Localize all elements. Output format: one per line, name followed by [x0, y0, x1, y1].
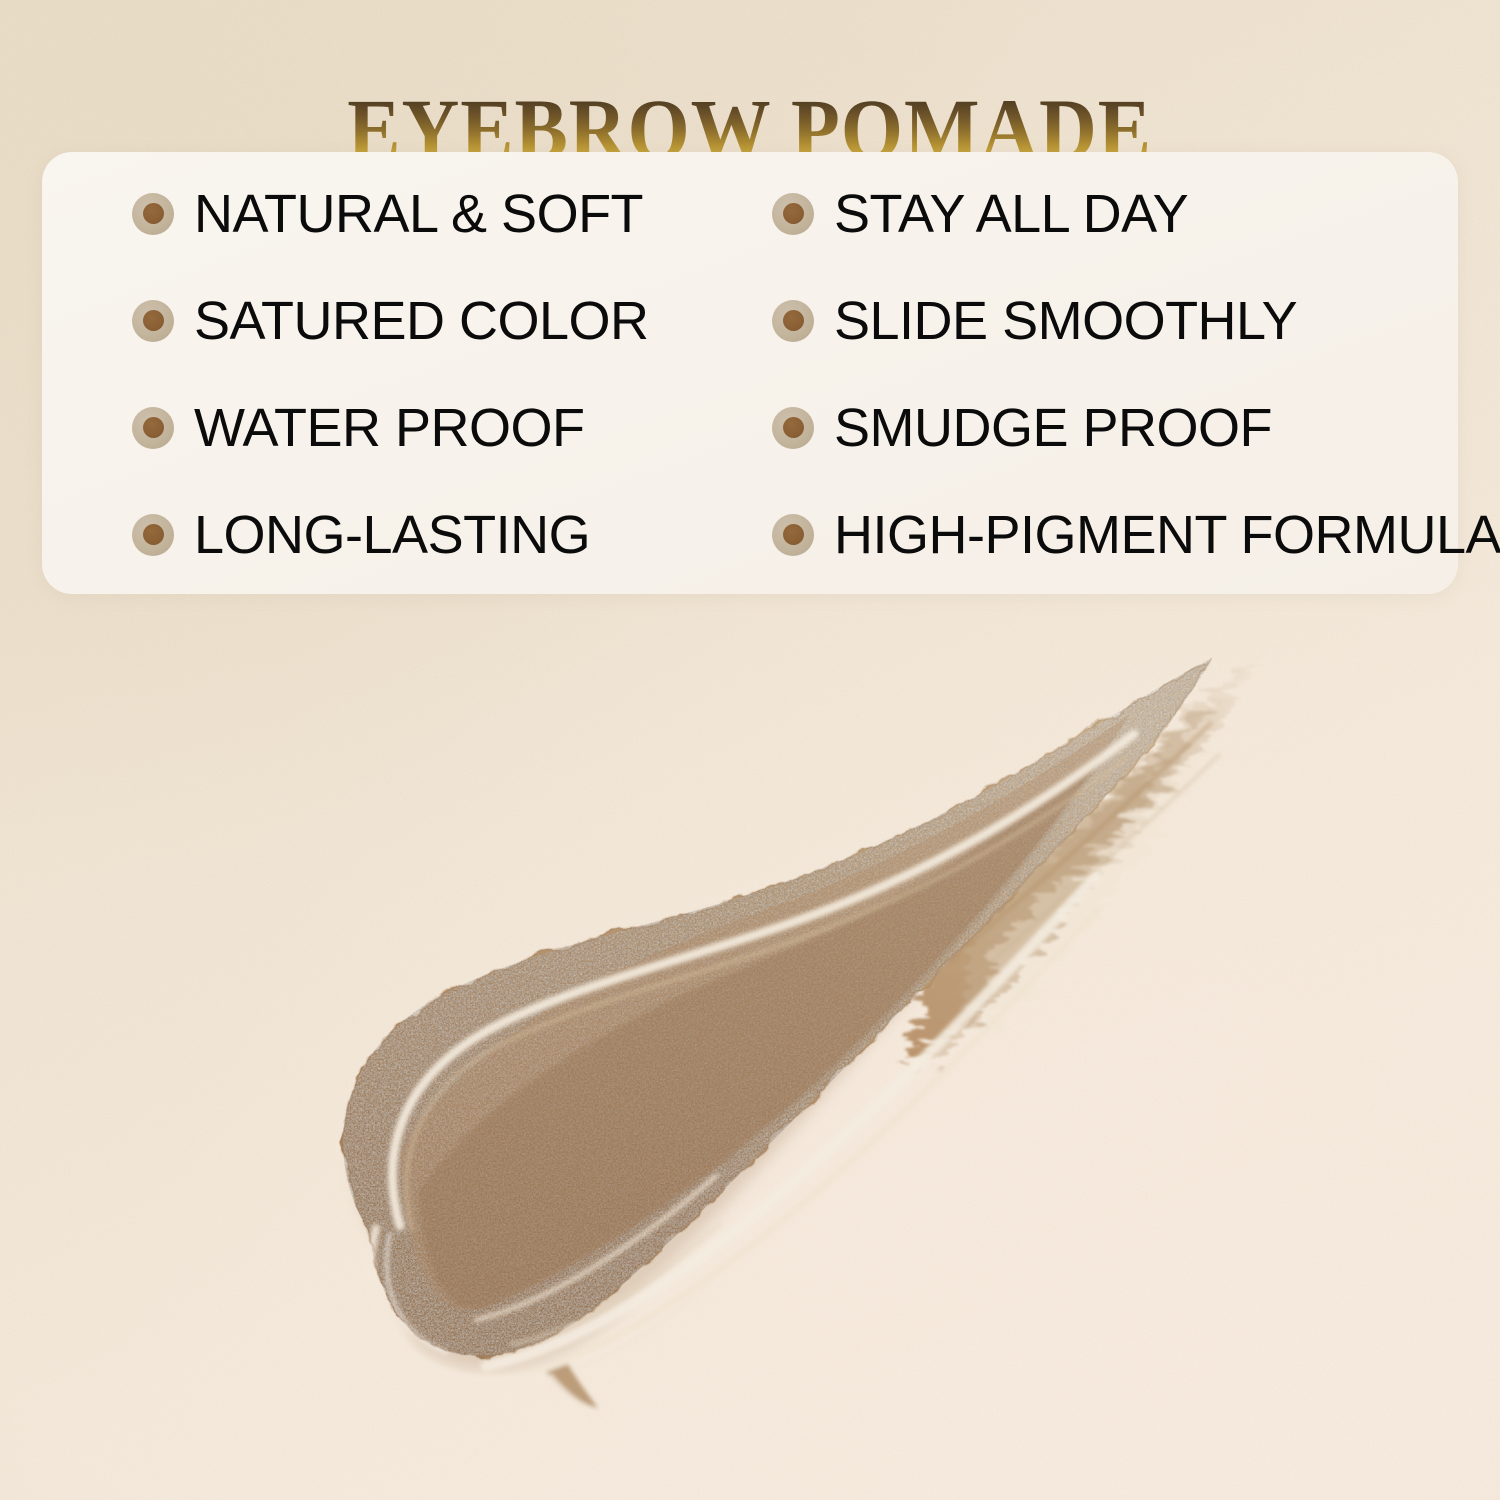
bullet-dot-icon [772, 193, 814, 235]
bullet-dot-icon [772, 514, 814, 556]
feature-item-long-lasting: LONG-LASTING [42, 508, 710, 562]
product-feature-graphic: EYEBROW POMADE NATURAL & SOFT STAY ALL D… [0, 0, 1500, 1500]
features-card: NATURAL & SOFT STAY ALL DAY SATURED COLO… [42, 152, 1458, 594]
feature-item-satured-color: SATURED COLOR [42, 294, 710, 348]
bullet-dot-icon [132, 300, 174, 342]
feature-item-high-pigment-formula: HIGH-PIGMENT FORMULA [710, 508, 1458, 562]
feature-label: WATER PROOF [194, 401, 584, 455]
feature-label: NATURAL & SOFT [194, 187, 643, 241]
feature-label: STAY ALL DAY [834, 187, 1188, 241]
feature-label: SATURED COLOR [194, 294, 649, 348]
bullet-dot-icon [132, 193, 174, 235]
feature-item-smudge-proof: SMUDGE PROOF [710, 401, 1458, 455]
bullet-dot-icon [772, 300, 814, 342]
bullet-dot-icon [772, 407, 814, 449]
bullet-dot-icon [132, 514, 174, 556]
feature-item-stay-all-day: STAY ALL DAY [710, 187, 1458, 241]
feature-label: SLIDE SMOOTHLY [834, 294, 1297, 348]
feature-label: HIGH-PIGMENT FORMULA [834, 508, 1500, 562]
features-grid: NATURAL & SOFT STAY ALL DAY SATURED COLO… [42, 152, 1458, 594]
feature-label: SMUDGE PROOF [834, 401, 1272, 455]
bullet-dot-icon [132, 407, 174, 449]
feature-item-water-proof: WATER PROOF [42, 401, 710, 455]
feature-label: LONG-LASTING [194, 508, 590, 562]
feature-item-slide-smoothly: SLIDE SMOOTHLY [710, 294, 1458, 348]
feature-item-natural-soft: NATURAL & SOFT [42, 187, 710, 241]
